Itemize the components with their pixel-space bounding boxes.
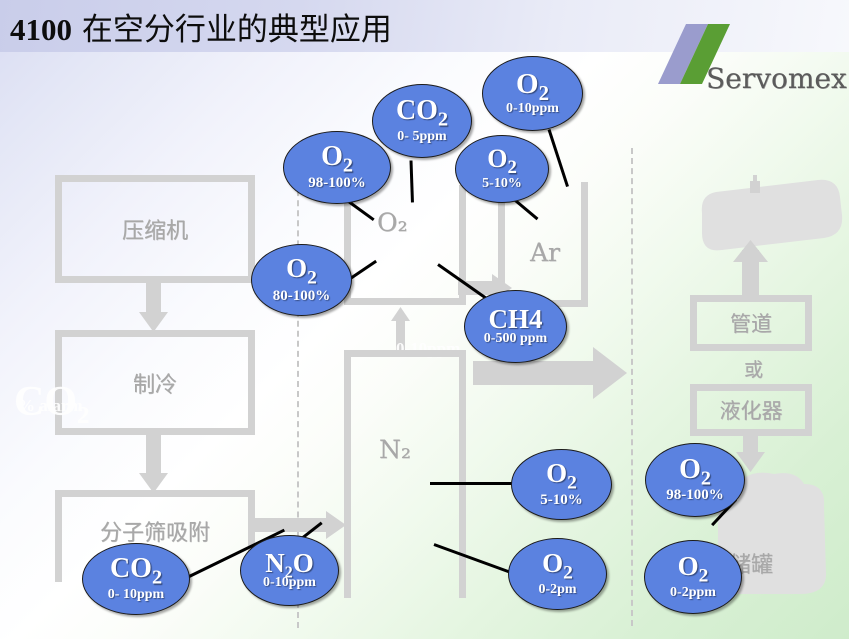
arrow-shaft-to-delivery [473, 361, 601, 385]
callout-range-label: 80-100% [273, 289, 331, 304]
column-label-o2: O₂ [377, 208, 408, 237]
callout-gas-label: CO2 [110, 556, 162, 588]
callout-bubble-o2-5-10-top[interactable]: O25-10% [455, 135, 549, 203]
page-title-text: 在空分行业的典型应用 [72, 12, 392, 48]
callout-bubble-o2-80-100[interactable]: O280-100% [251, 244, 352, 316]
callout-bubble-o2-5-10-mid[interactable]: O25-10% [511, 449, 612, 520]
leader-line-o2-5-10-mid [430, 482, 516, 485]
callout-range-label: 5-10% [540, 493, 583, 508]
logo-wordmark: Servomex [706, 62, 847, 95]
callout-bubble-o2-98-100-top[interactable]: O298-100% [283, 131, 391, 204]
callout-bubble-ch4-0-500ppm[interactable]: CH40-500 ppm [464, 290, 567, 363]
callout-gas-label: CO2 [396, 98, 448, 130]
callout-gas-label: O2 [546, 461, 577, 493]
callout-gas-label: O2 [487, 147, 517, 177]
callout-bubble-co2-0-5ppm[interactable]: CO20- 5ppm [372, 84, 472, 158]
callout-gas-label: O2 [678, 554, 709, 586]
column-box-n2 [344, 350, 466, 598]
column-label-n2: N₂ [379, 435, 411, 464]
callout-gas-label: O2 [679, 457, 711, 489]
callout-gas-label: N₂O [265, 551, 314, 577]
column-label-ar: Ar [530, 238, 560, 267]
callout-bubble-n2o-0-10ppm[interactable]: N₂O0-10ppm [240, 535, 339, 606]
arrow-head-column-internal [391, 307, 410, 321]
faint-label-co2-alarm-range: % alarm [18, 396, 83, 416]
column-box-o2 [344, 185, 466, 305]
callout-range-label: 98-100% [308, 176, 366, 191]
page-title: 4100 在空分行业的典型应用 [10, 4, 392, 49]
callout-range-label: 0-500 ppm [484, 332, 547, 346]
callout-gas-label: O2 [321, 144, 353, 176]
leader-line-o2-0-10ppm-top [548, 129, 569, 187]
callout-range-label: 0-2ppm [670, 586, 716, 600]
process-label-pipeline: 管道 [730, 308, 772, 338]
callout-bubble-o2-0-2ppm[interactable]: O20-2ppm [644, 540, 742, 614]
slide-canvas: 4100 在空分行业的典型应用 Servomex 压缩机 制冷 分子筛吸附 CO… [0, 0, 849, 639]
arrow-head-sieve-to-column [326, 511, 346, 539]
callout-range-label: 0- 5ppm [397, 130, 446, 144]
page-title-number: 4100 [10, 12, 72, 47]
callout-range-label: 0- 10ppm [108, 588, 164, 602]
callout-gas-label: O2 [542, 551, 573, 583]
callout-range-label: 0-10ppm [506, 102, 559, 116]
arrow-shaft-sieve-to-column [255, 518, 335, 532]
arrow-head-pipeline-to-tanker [733, 240, 768, 262]
callout-range-label: 0-10ppm [263, 576, 316, 590]
process-box-liquefier: 液化器 [690, 384, 812, 436]
tanker-vessel-icon [692, 175, 848, 257]
process-label-refrigeration: 制冷 [133, 367, 177, 399]
callout-bubble-o2-0-2pm[interactable]: O20-2pm [508, 538, 607, 610]
callout-range-label: 98-100% [666, 488, 724, 503]
process-label-compressor: 压缩机 [122, 213, 188, 245]
callout-range-label: 0-2pm [538, 583, 576, 597]
process-box-pipeline: 管道 [690, 295, 812, 351]
arrow-shaft-refrigeration-to-sieve [146, 435, 161, 478]
arrow-head-to-delivery [593, 347, 627, 399]
leader-line-co2-0-5ppm [410, 160, 414, 202]
callout-range-label: 5-10% [482, 177, 522, 191]
process-label-liquefier: 液化器 [720, 395, 783, 425]
process-box-compressor: 压缩机 [55, 175, 255, 283]
callout-gas-label: CH4 [489, 307, 543, 333]
divider-dashed-right [631, 148, 633, 626]
callout-gas-label: O2 [286, 256, 317, 288]
callout-bubble-co2-0-10ppm[interactable]: CO20- 10ppm [82, 543, 190, 615]
callout-bubble-o2-0-10ppm-top[interactable]: O20-10ppm [482, 56, 583, 131]
callout-bubble-o2-98-100-right[interactable]: O298-100% [645, 443, 745, 517]
arrow-head-compressor-to-refrigeration [139, 312, 168, 332]
process-label-molecular-sieve: 分子筛吸附 [100, 515, 210, 547]
callout-gas-label: O2 [516, 71, 549, 103]
servomex-logo: Servomex [646, 22, 846, 102]
label-or: 或 [744, 355, 763, 382]
